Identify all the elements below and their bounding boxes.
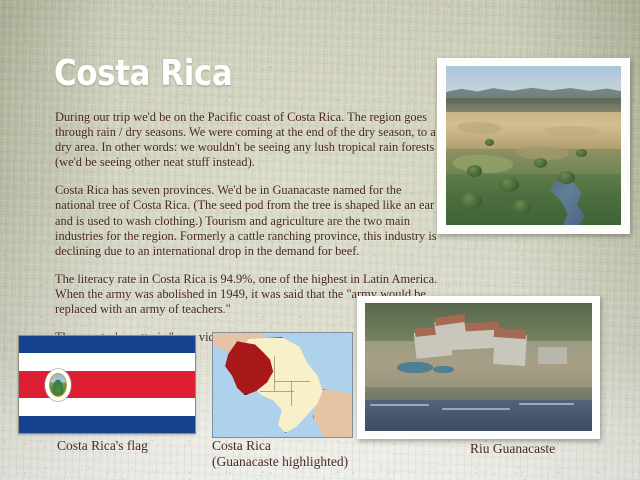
resort-surf-line [442,408,510,410]
landscape-tree [513,200,531,214]
resort-pool [433,366,453,374]
caption-riu-guanacaste: Riu Guanacaste [470,441,555,457]
coat-of-arms [45,369,71,401]
resort-roof [494,327,526,338]
flag-stripe-white-lower [19,398,195,415]
map-province-border [260,391,293,392]
page-title: Costa Rica [54,54,232,94]
riu-guanacaste-resort-photo-image [365,303,592,431]
resort-surf-line [519,403,573,405]
landscape-tree [576,149,587,157]
map-province-border [291,381,292,406]
resort-annex-building [538,347,568,365]
landscape-tree [467,165,482,177]
map-province-border [274,381,310,382]
landscape-field-patch [544,126,600,137]
flag-stripe-blue-top [19,336,195,353]
landscape-sky [446,66,621,91]
map-province-border [274,356,275,391]
costa-rica-map-image [212,332,353,438]
resort-surf-line [370,404,429,406]
riu-guanacaste-resort-photo [357,296,600,439]
slide-costa-rica: Costa Rica During our trip we'd be on th… [0,0,640,480]
landscape-tree [485,139,494,146]
landscape-tree [499,177,519,192]
flag-stripe-white-upper [19,353,195,370]
aerial-landscape-photo [437,58,630,234]
resort-artwork [365,303,592,431]
resort-pool [397,362,433,374]
flag-stripe-blue-bottom [19,416,195,433]
paragraph-intro: During our trip we'd be on the Pacific c… [55,110,439,170]
landscape-field-patch [453,155,513,172]
landscape-artwork [446,66,621,225]
aerial-landscape-photo-image [446,66,621,225]
landscape-tree [558,171,575,184]
costa-rica-flag-image [18,335,196,434]
coat-of-arms-shield [49,373,67,397]
costa-rica-map [212,332,353,438]
costa-rica-flag [18,335,196,434]
caption-costa-rica-map: Costa Rica (Guanacaste highlighted) [212,438,348,470]
landscape-tree [534,158,547,168]
caption-costa-rica-flag: Costa Rica's flag [57,438,148,454]
paragraph-provinces: Costa Rica has seven provinces. We'd be … [55,183,439,258]
